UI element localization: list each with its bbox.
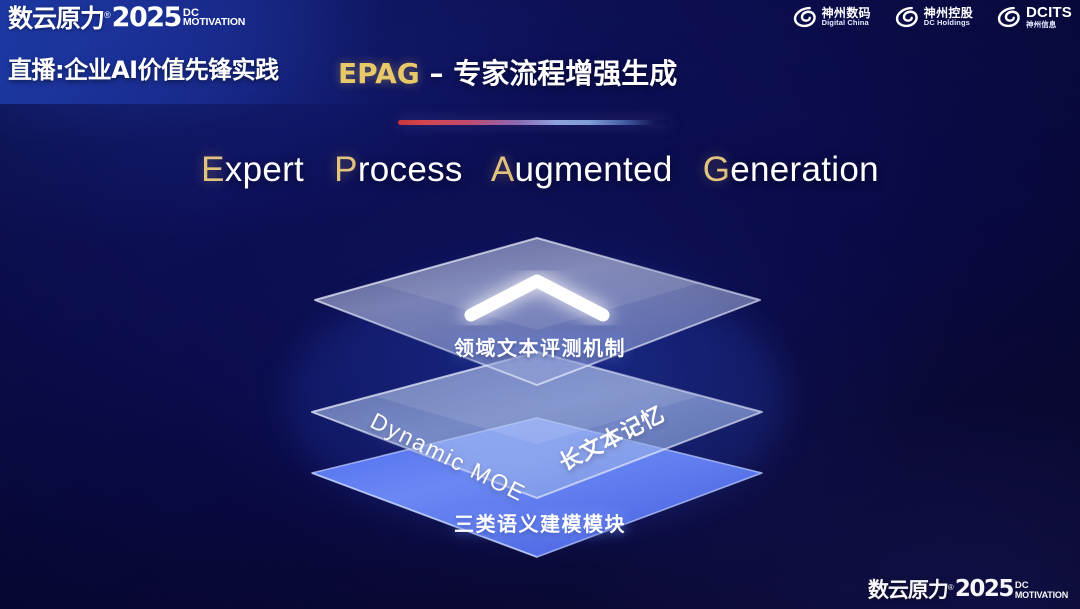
subtitle-remainder: rocess xyxy=(358,150,463,189)
brand-logo-year: 2025 xyxy=(112,4,181,31)
partner-name-en: DC Holdings xyxy=(924,19,973,27)
watermark-year: 2025 xyxy=(955,578,1013,601)
watermark-dc-motivation: DC MOTIVATION xyxy=(1015,582,1068,599)
subtitle-space xyxy=(314,150,324,189)
subtitle-remainder: xpert xyxy=(225,150,304,189)
partner-name-en: Digital China xyxy=(822,19,871,27)
brand-logo-motivation-text: MOTIVATION xyxy=(183,18,245,28)
subtitle-space xyxy=(473,150,483,189)
layer-top xyxy=(315,238,760,385)
subtitle-capital: A xyxy=(491,150,515,189)
watermark-motivation-text: MOTIVATION xyxy=(1015,591,1068,599)
subtitle-word-expert: Expert xyxy=(201,150,304,189)
page-title-separator: – xyxy=(420,57,454,90)
subtitle-space xyxy=(683,150,693,189)
subtitle-word-augmented: Augmented xyxy=(491,150,673,189)
watermark-chinese: 数云原力 xyxy=(868,580,948,601)
chevron-up-icon xyxy=(471,281,603,315)
page-title-acronym: EPAG xyxy=(338,57,420,90)
subtitle-capital: P xyxy=(334,150,358,189)
partner-text-dcits: DCITS 神州信息 xyxy=(1026,5,1072,29)
partner-text-dc-holdings: 神州控股 DC Holdings xyxy=(924,7,973,27)
subtitle-word-generation: Generation xyxy=(703,150,879,189)
swirl-icon xyxy=(995,4,1021,30)
title-divider-line xyxy=(398,120,670,125)
live-stream-title: 直播:企业AI价值先锋实践 xyxy=(8,50,279,85)
layer-middle-left-label: Dynamic MOE xyxy=(366,407,530,507)
subtitle-word-process: Process xyxy=(334,150,463,189)
brand-logo-registered-mark: ® xyxy=(104,10,111,20)
partner-text-digital-china: 神州数码 Digital China xyxy=(822,7,871,27)
partner-logos: 神州数码 Digital China 神州控股 DC Holdings DCIT… xyxy=(791,4,1072,30)
brand-logo-chinese: 数云原力 xyxy=(8,6,104,31)
partner-name-cn: 神州信息 xyxy=(1026,21,1072,29)
subtitle-remainder: ugmented xyxy=(515,150,673,189)
brand-logo: 数云原力®2025 DC MOTIVATION xyxy=(8,4,245,31)
layer-middle-right-label: 长文本记忆 xyxy=(553,397,670,478)
footer-watermark: 数云原力®2025 DC MOTIVATION xyxy=(868,578,1068,601)
partner-logo-dcits: DCITS 神州信息 xyxy=(995,4,1072,30)
page-title-chinese: 专家流程增强生成 xyxy=(453,57,677,90)
presentation-slide: 数云原力®2025 DC MOTIVATION 直播:企业AI价值先锋实践 神州… xyxy=(0,0,1080,609)
subtitle-capital: G xyxy=(703,150,731,189)
partner-logo-digital-china: 神州数码 Digital China xyxy=(791,4,871,30)
page-title: EPAG – 专家流程增强生成 xyxy=(338,52,677,92)
layer-top-label: 领域文本评测机制 xyxy=(0,332,1080,361)
swirl-icon xyxy=(893,4,919,30)
subtitle-capital: E xyxy=(201,150,225,189)
layer-bottom-label: 三类语义建模模块 xyxy=(0,508,1080,537)
brand-logo-dc-motivation: DC MOTIVATION xyxy=(183,8,245,28)
partner-name-en: DCITS xyxy=(1026,5,1072,21)
partner-logo-dc-holdings: 神州控股 DC Holdings xyxy=(893,4,973,30)
subtitle-remainder: eneration xyxy=(730,150,879,189)
swirl-icon xyxy=(791,4,817,30)
subtitle-expansion: Expert Process Augmented Generation xyxy=(0,150,1080,190)
watermark-registered-mark: ® xyxy=(948,583,954,592)
